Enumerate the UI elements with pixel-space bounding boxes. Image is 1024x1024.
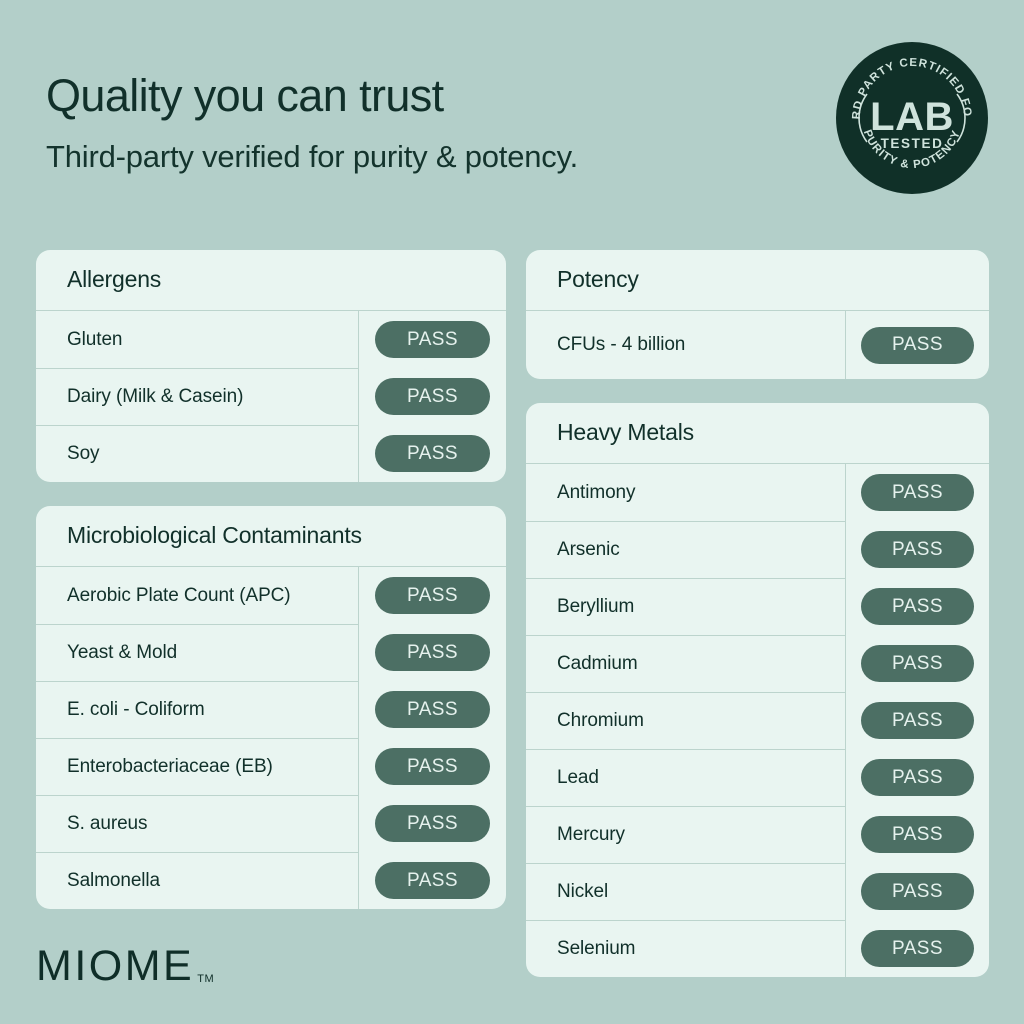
status-badge: PASS	[375, 321, 490, 358]
status-badge: PASS	[375, 748, 490, 785]
badge-main-text: LAB	[870, 95, 954, 139]
row-label: Aerobic Plate Count (APC)	[36, 567, 358, 624]
status-badge: PASS	[861, 588, 974, 625]
row-status: PASS	[358, 852, 506, 909]
row-label: Salmonella	[36, 852, 358, 909]
table-row: Selenium PASS	[526, 920, 989, 977]
brand-name: MIOME	[36, 945, 194, 988]
status-badge: PASS	[861, 327, 974, 364]
status-badge: PASS	[375, 634, 490, 671]
page-header: Quality you can trust Third-party verifi…	[46, 72, 806, 175]
row-label: E. coli - Coliform	[36, 681, 358, 738]
row-label: Dairy (Milk & Casein)	[36, 368, 358, 425]
row-status: PASS	[845, 635, 989, 692]
status-badge: PASS	[861, 759, 974, 796]
table-row: Lead PASS	[526, 749, 989, 806]
row-list-heavy-metals: Antimony PASS Arsenic PASS Beryllium PAS…	[526, 464, 989, 977]
status-badge: PASS	[375, 435, 490, 472]
row-label: S. aureus	[36, 795, 358, 852]
row-label: Yeast & Mold	[36, 624, 358, 681]
row-label: Chromium	[526, 692, 845, 749]
page-title: Quality you can trust	[46, 72, 806, 119]
table-row: Dairy (Milk & Casein) PASS	[36, 368, 506, 425]
table-row: E. coli - Coliform PASS	[36, 681, 506, 738]
row-status: PASS	[845, 749, 989, 806]
card-potency: Potency CFUs - 4 billion PASS	[526, 250, 989, 379]
table-row: Arsenic PASS	[526, 521, 989, 578]
row-status: PASS	[845, 920, 989, 977]
status-badge: PASS	[861, 873, 974, 910]
table-row: Cadmium PASS	[526, 635, 989, 692]
trademark-symbol: TM	[197, 973, 214, 985]
card-title-microbiological: Microbiological Contaminants	[36, 506, 506, 567]
table-row: Yeast & Mold PASS	[36, 624, 506, 681]
status-badge: PASS	[861, 816, 974, 853]
row-label: Soy	[36, 425, 358, 482]
status-badge: PASS	[861, 702, 974, 739]
row-status: PASS	[358, 738, 506, 795]
row-status: PASS	[358, 624, 506, 681]
row-status: PASS	[845, 863, 989, 920]
table-row: Salmonella PASS	[36, 852, 506, 909]
status-badge: PASS	[861, 474, 974, 511]
brand-logo: MIOME TM	[36, 945, 214, 988]
left-column: Allergens Gluten PASS Dairy (Milk & Case…	[36, 250, 506, 933]
row-status: PASS	[358, 795, 506, 852]
table-row: Aerobic Plate Count (APC) PASS	[36, 567, 506, 624]
badge-sub-text: TESTED	[881, 136, 944, 151]
table-row: S. aureus PASS	[36, 795, 506, 852]
card-title-potency: Potency	[526, 250, 989, 311]
row-label: Gluten	[36, 311, 358, 368]
table-row: Nickel PASS	[526, 863, 989, 920]
table-row: Gluten PASS	[36, 311, 506, 368]
row-status: PASS	[845, 578, 989, 635]
status-badge: PASS	[861, 930, 974, 967]
status-badge: PASS	[375, 577, 490, 614]
right-column: Potency CFUs - 4 billion PASS Heavy Meta…	[526, 250, 989, 1001]
table-row: CFUs - 4 billion PASS	[526, 311, 989, 379]
row-status: PASS	[358, 311, 506, 368]
page-subtitle: Third-party verified for purity & potenc…	[46, 139, 806, 175]
row-status: PASS	[358, 681, 506, 738]
card-heavy-metals: Heavy Metals Antimony PASS Arsenic PASS …	[526, 403, 989, 977]
row-label: Arsenic	[526, 521, 845, 578]
row-label: CFUs - 4 billion	[526, 311, 845, 379]
row-label: Enterobacteriaceae (EB)	[36, 738, 358, 795]
row-status: PASS	[845, 311, 989, 379]
table-row: Enterobacteriaceae (EB) PASS	[36, 738, 506, 795]
card-microbiological-contaminants: Microbiological Contaminants Aerobic Pla…	[36, 506, 506, 909]
row-status: PASS	[845, 521, 989, 578]
row-label: Cadmium	[526, 635, 845, 692]
card-title-allergens: Allergens	[36, 250, 506, 311]
row-status: PASS	[845, 464, 989, 521]
status-badge: PASS	[375, 691, 490, 728]
row-list-potency: CFUs - 4 billion PASS	[526, 311, 989, 379]
status-badge: PASS	[375, 378, 490, 415]
table-row: Mercury PASS	[526, 806, 989, 863]
row-label: Beryllium	[526, 578, 845, 635]
row-label: Selenium	[526, 920, 845, 977]
status-badge: PASS	[861, 531, 974, 568]
status-badge: PASS	[375, 805, 490, 842]
row-list-microbiological: Aerobic Plate Count (APC) PASS Yeast & M…	[36, 567, 506, 909]
row-status: PASS	[845, 806, 989, 863]
status-badge: PASS	[375, 862, 490, 899]
lab-tested-badge-icon: 3RD PARTY CERTIFIED FOR LAB TESTED PURIT…	[836, 42, 988, 194]
table-row: Antimony PASS	[526, 464, 989, 521]
table-row: Soy PASS	[36, 425, 506, 482]
card-allergens: Allergens Gluten PASS Dairy (Milk & Case…	[36, 250, 506, 482]
row-status: PASS	[358, 368, 506, 425]
row-label: Nickel	[526, 863, 845, 920]
table-row: Chromium PASS	[526, 692, 989, 749]
row-status: PASS	[845, 692, 989, 749]
row-status: PASS	[358, 425, 506, 482]
table-row: Beryllium PASS	[526, 578, 989, 635]
card-title-heavy-metals: Heavy Metals	[526, 403, 989, 464]
row-list-allergens: Gluten PASS Dairy (Milk & Casein) PASS S…	[36, 311, 506, 482]
row-label: Lead	[526, 749, 845, 806]
row-status: PASS	[358, 567, 506, 624]
row-label: Mercury	[526, 806, 845, 863]
row-label: Antimony	[526, 464, 845, 521]
status-badge: PASS	[861, 645, 974, 682]
